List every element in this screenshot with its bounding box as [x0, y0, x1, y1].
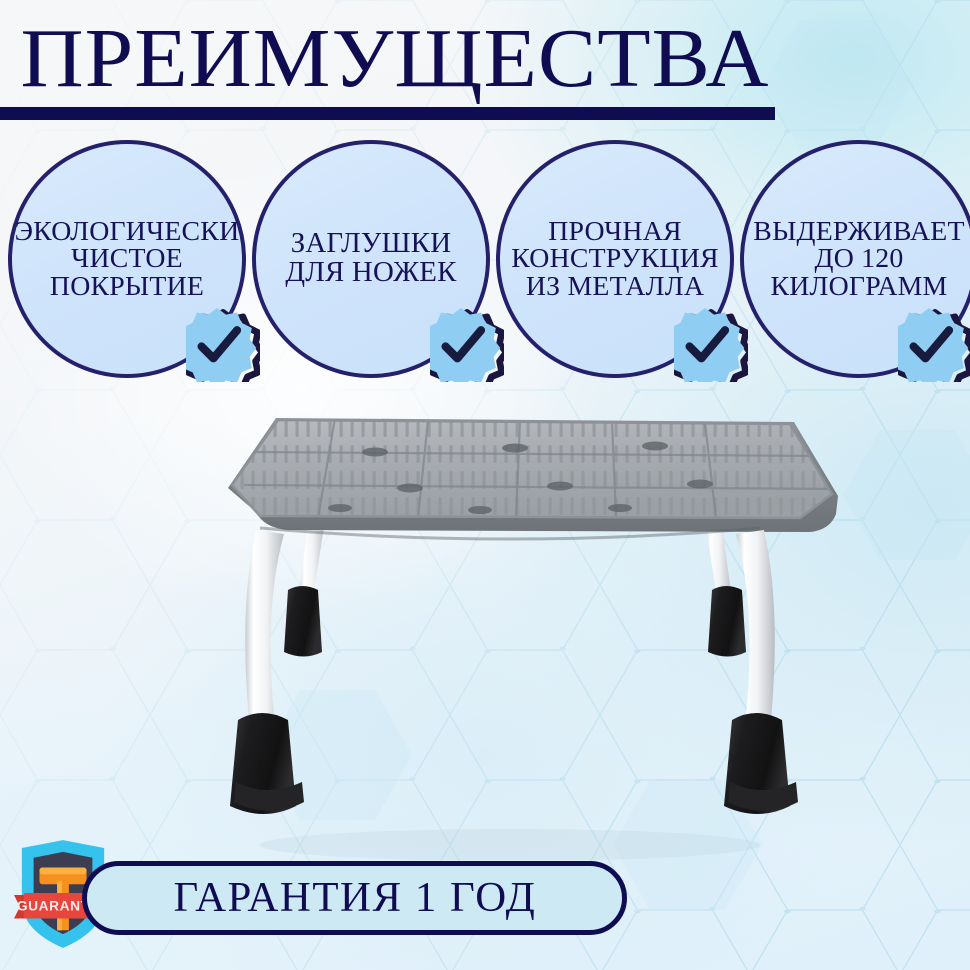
page-title-block: ПРЕИМУЩЕСТВА — [0, 18, 790, 120]
check-seal-icon — [430, 308, 504, 382]
guarantee-label: ГАРАНТИЯ 1 ГОД — [173, 874, 536, 922]
check-seal-icon — [898, 308, 970, 382]
feature-circles-row: ЭКОЛОГИЧЕСКИ ЧИСТОЕ ПОКРЫТИЕ ЗАГЛУШКИ ДЛ… — [0, 140, 970, 392]
feature-label-metal-frame: ПРОЧНАЯ КОНСТРУКЦИЯ ИЗ МЕТАЛЛА — [497, 218, 734, 301]
feature-label-eco-coating: ЭКОЛОГИЧЕСКИ ЧИСТОЕ ПОКРЫТИЕ — [9, 218, 246, 301]
title-underline — [0, 107, 775, 120]
rubber-foot-cap — [724, 713, 798, 814]
product-image-step-stool — [160, 390, 860, 860]
check-seal-icon — [186, 308, 260, 382]
guarantee-badge[interactable]: ГАРАНТИЯ 1 ГОД — [82, 861, 627, 935]
infographic-canvas: ПРЕИМУЩЕСТВА ЭКОЛОГИЧЕСКИ ЧИСТОЕ ПОКРЫТИ… — [0, 0, 970, 970]
check-seal-icon — [674, 308, 748, 382]
feature-label-leg-caps: ЗАГЛУШКИ ДЛЯ НОЖЕК — [253, 230, 490, 287]
feature-label-weight-capacity: ВЫДЕРЖИВАЕТ ДО 120 КИЛОГРАММ — [741, 218, 970, 301]
stool-back-legs — [284, 510, 746, 657]
rubber-foot-cap — [230, 713, 304, 814]
page-title: ПРЕИМУЩЕСТВА — [0, 18, 806, 99]
stool-platform — [220, 410, 850, 539]
